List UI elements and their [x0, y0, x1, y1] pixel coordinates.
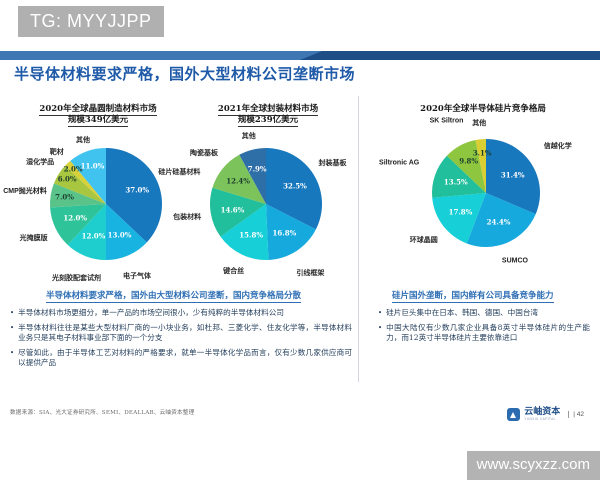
brand-logo: 云岫资本 YUNXIU CAPITAL | 42: [507, 408, 584, 421]
telegram-tag-overlay: TG: MYYJJPP: [18, 6, 164, 37]
pie-category-label: 其他: [242, 131, 256, 141]
pie-category-label: 光刻胶配套试剂: [52, 273, 101, 283]
pie-category-label: 电子气体: [123, 271, 151, 281]
pie-value-label: 12.0%: [82, 231, 106, 240]
pie-value-label: 13.0%: [108, 231, 132, 240]
pie-value-label: 15.8%: [239, 230, 263, 239]
slide-root: TG: MYYJJPP 半导体材料要求严格，国外大型材料公司垄断市场 2020年…: [0, 0, 600, 480]
bullet-text: 硅片巨头集中在日本、韩国、德国、中国台湾: [386, 308, 590, 319]
page-title: 半导体材料要求严格，国外大型材料公司垄断市场: [14, 63, 355, 84]
pie-value-label: 6.0%: [58, 175, 77, 184]
pie-value-label: 37.0%: [125, 186, 149, 195]
right-subheading: 硅片国外垄断，国内鲜有公司具备竞争能力: [392, 289, 554, 303]
pie-category-label: 键合丝: [223, 266, 244, 276]
chart3-title: 2020年全球半导体硅片竞争格局: [378, 104, 588, 115]
chart2-plot-area: 32.5%封装基板16.8%引线框架15.8%键合丝14.6%包装材料12.4%…: [188, 126, 348, 276]
logo-label: 云岫资本: [524, 408, 560, 417]
pie-category-label: Siltronic AG: [379, 159, 419, 166]
left-subheading: 半导体材料要求严格，国外由大型材料公司垄断，国内竞争格局分散: [46, 289, 301, 303]
pie-category-label: 环球晶圆: [410, 235, 438, 245]
pie-category-label: 其他: [76, 135, 90, 145]
pie-value-label: 9.8%: [459, 157, 478, 166]
wafer-fab-materials-2020-svg: [18, 126, 178, 276]
bullet-text: 尽管如此，由于半导体工艺对材料的严格要求，就单一半导体化学品而言，仅有少数几家供…: [18, 348, 352, 369]
pie-category-label: 陶瓷基板: [190, 148, 218, 158]
bullet-text: 半导体材料往往是某些大型材料厂商的一小块业务，如杜邦、三菱化学、住友化学等，半导…: [18, 323, 352, 344]
pie-value-label: 7.0%: [55, 193, 74, 202]
right-bullet-list: •硅片巨头集中在日本、韩国、德国、中国台湾•中国大陆仅有少数几家企业具备8英寸半…: [378, 308, 590, 348]
page-number: | 42: [568, 411, 584, 418]
pie-category-label: 引线框架: [296, 268, 324, 278]
pie-category-label: 封装基板: [319, 158, 347, 168]
bullet-dot-icon: •: [378, 308, 382, 319]
pie-value-label: 11.0%: [81, 162, 105, 171]
logo-sublabel: YUNXIU CAPITAL: [524, 417, 560, 421]
pie-category-label: 其他: [472, 118, 486, 128]
pie-category-label: 湿化学品: [26, 157, 54, 167]
pie-category-label: 光掩膜版: [20, 233, 48, 243]
chart3-title-line1: 2020年全球半导体硅片竞争格局: [420, 104, 546, 114]
chart-silicon-wafer-landscape-2020: 2020年全球半导体硅片竞争格局 31.4%信越化学24.4%SUMCO17.8…: [378, 104, 588, 265]
chart2-title: 2021年全球封装材料市场 规模239亿美元: [188, 104, 348, 126]
chart3-plot-area: 31.4%信越化学24.4%SUMCO17.8%环球晶圆13.5%Siltron…: [378, 115, 588, 265]
pie-category-label: 靶材: [50, 147, 64, 157]
pie-value-label: 16.8%: [273, 228, 297, 237]
bullet-item-right: •中国大陆仅有少数几家企业具备8英寸半导体硅片的生产能力，而12英寸半导体硅片主…: [378, 323, 590, 344]
pie-category-label: 信越化学: [544, 141, 572, 151]
site-watermark: www.scyxzz.com: [467, 451, 600, 480]
bullet-text: 半导体材料市场更细分，单一产品的市场空间很小，少有纯粹的半导体材料公司: [18, 308, 352, 319]
column-divider: [358, 96, 359, 382]
bullet-item-left: •半导体材料市场更细分，单一产品的市场空间很小，少有纯粹的半导体材料公司: [10, 308, 352, 319]
bullet-item-right: •硅片巨头集中在日本、韩国、德国、中国台湾: [378, 308, 590, 319]
bullet-item-left: •尽管如此，由于半导体工艺对材料的严格要求，就单一半导体化学品而言，仅有少数几家…: [10, 348, 352, 369]
bullet-dot-icon: •: [10, 348, 14, 369]
bullet-item-left: •半导体材料往往是某些大型材料厂商的一小块业务，如杜邦、三菱化学、住友化学等，半…: [10, 323, 352, 344]
bullet-dot-icon: •: [10, 308, 14, 319]
pie-value-label: 17.8%: [449, 208, 473, 217]
chart1-title: 2020年全球晶圆制造材料市场 规模349亿美元: [18, 104, 178, 126]
pie-value-label: 7.9%: [248, 165, 267, 174]
pie-value-label: 13.5%: [444, 178, 468, 187]
pie-category-label: 包装材料: [173, 212, 201, 222]
chart-packaging-materials-2021: 2021年全球封装材料市场 规模239亿美元 32.5%封装基板16.8%引线框…: [188, 104, 348, 276]
bullet-dot-icon: •: [10, 323, 14, 344]
pie-value-label: 32.5%: [283, 182, 307, 191]
chart1-plot-area: 37.0%硅片硅基材料13.0%电子气体12.0%光刻胶配套试剂12.0%光掩膜…: [18, 126, 178, 276]
source-note: 数据来源：SIA、光大证券研究所、SEMI、DEALLAB、云岫资本整理: [10, 408, 194, 416]
pie-category-label: SUMCO: [502, 258, 528, 265]
pie-value-label: 12.4%: [226, 177, 250, 186]
pie-category-label: SK Siltron: [430, 118, 464, 125]
pie-value-label: 24.4%: [487, 218, 511, 227]
chart-wafer-fab-materials-2020: 2020年全球晶圆制造材料市场 规模349亿美元 37.0%硅片硅基材料13.0…: [18, 104, 178, 276]
pie-category-label: CMP抛光材料: [3, 186, 47, 196]
house-logo-icon: [507, 408, 520, 421]
bullet-text: 中国大陆仅有少数几家企业具备8英寸半导体硅片的生产能力，而12英寸半导体硅片主要…: [386, 323, 590, 344]
header-band-wedge: [300, 51, 600, 60]
left-bullet-list: •半导体材料市场更细分，单一产品的市场空间很小，少有纯粹的半导体材料公司•半导体…: [10, 308, 352, 373]
pie-value-label: 14.6%: [221, 205, 245, 214]
pie-value-label: 12.0%: [63, 214, 87, 223]
pie-value-label: 31.4%: [501, 171, 525, 180]
bullet-dot-icon: •: [378, 323, 382, 344]
header-band: [0, 51, 600, 60]
pie-value-label: 3.1%: [473, 149, 492, 158]
